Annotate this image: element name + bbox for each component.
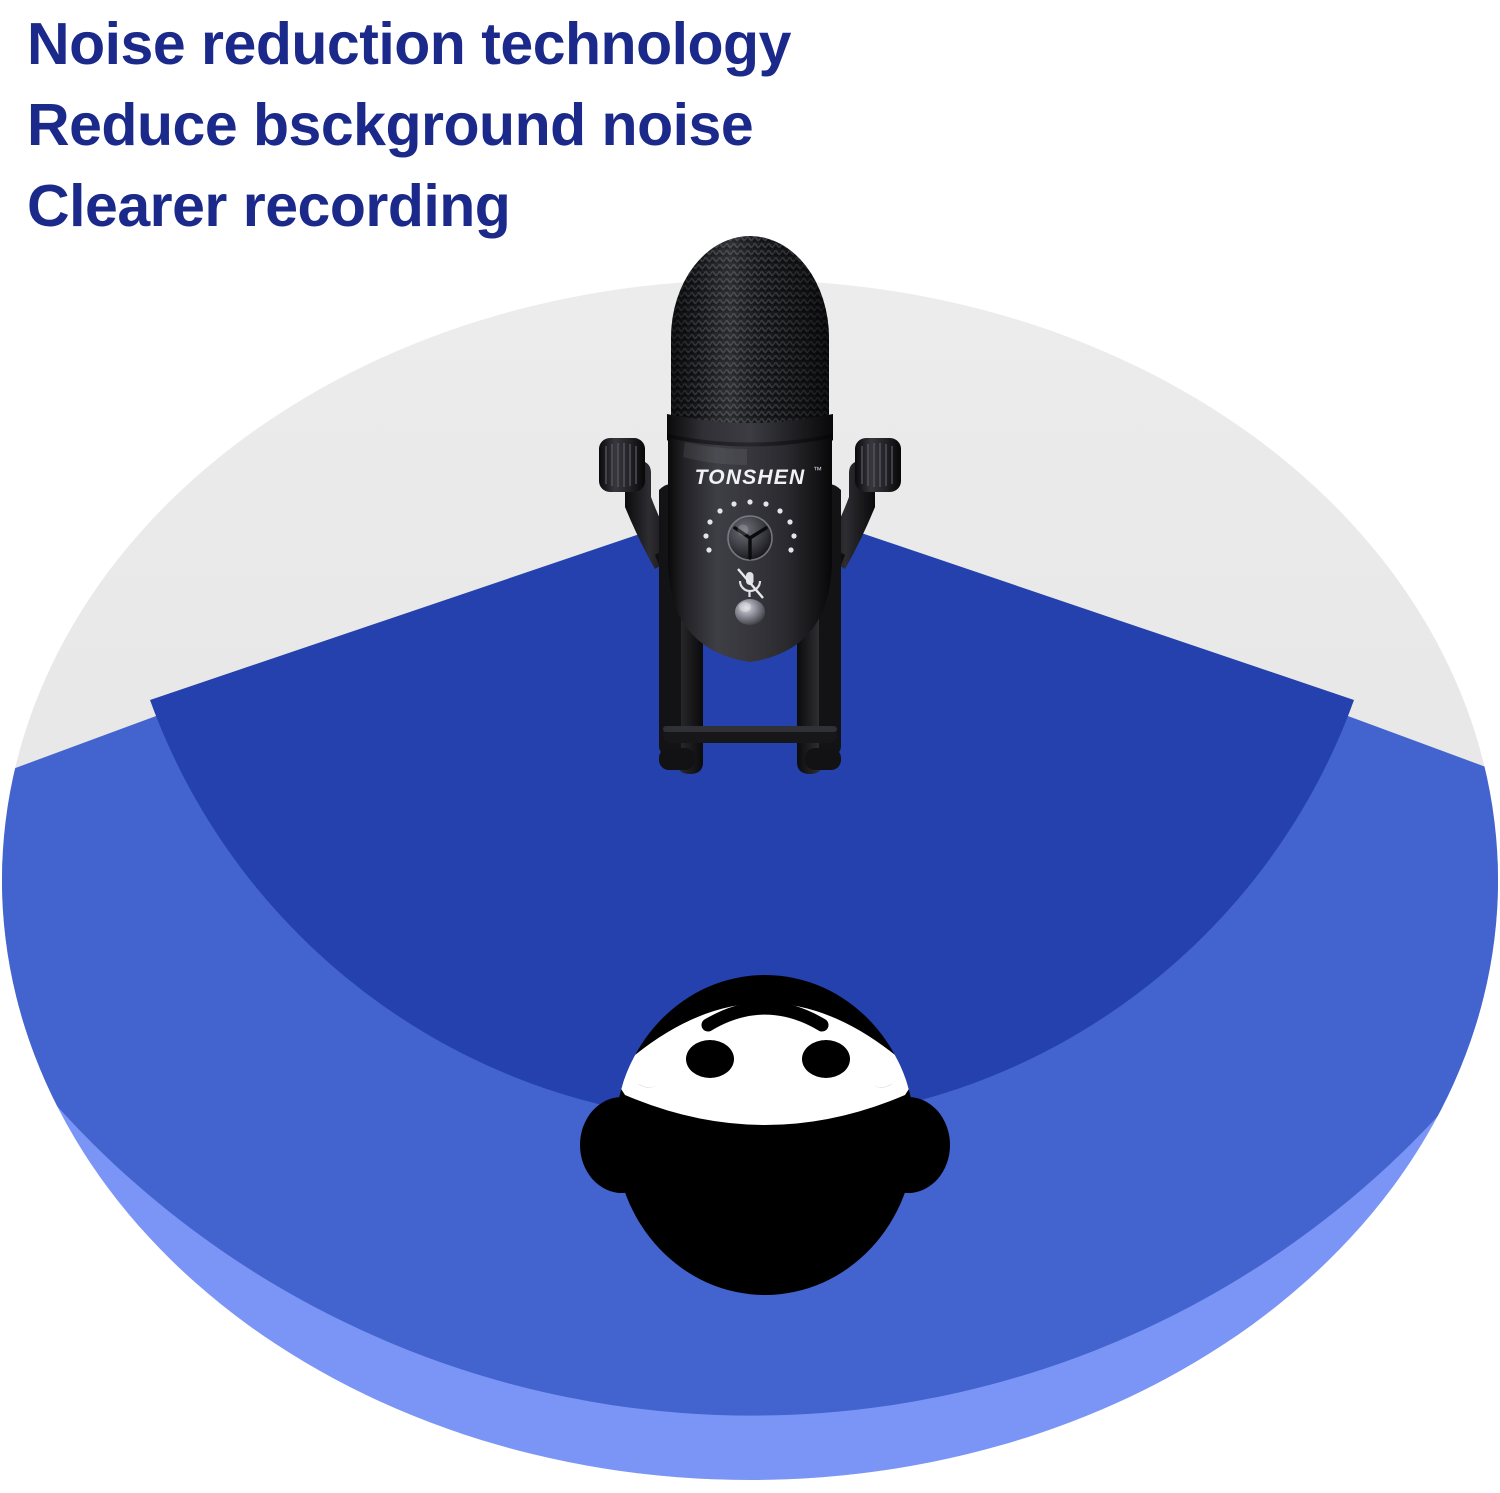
- left-tension-knob[interactable]: [599, 438, 645, 492]
- product-infographic: TONSHEN ™: [0, 0, 1500, 1493]
- stand-feet: [659, 748, 841, 770]
- brand-logo: TONSHEN ™: [695, 465, 822, 489]
- headline-line-2: Reduce bsckground noise: [27, 85, 1027, 166]
- person-head-top-view: [560, 955, 970, 1305]
- stand-crossbar: [663, 726, 837, 743]
- right-eye: [802, 1040, 850, 1078]
- headline-line-3: Clearer recording: [27, 166, 1027, 247]
- volume-knob[interactable]: [728, 516, 772, 560]
- mesh-grille-head: [671, 236, 829, 424]
- headline-line-1: Noise reduction technology: [27, 4, 1027, 85]
- usb-condenser-microphone: TONSHEN ™: [585, 228, 915, 788]
- left-eye: [686, 1040, 734, 1078]
- svg-text:™: ™: [813, 465, 822, 475]
- svg-text:TONSHEN: TONSHEN: [695, 466, 806, 489]
- status-led-button[interactable]: [735, 599, 765, 625]
- right-tension-knob[interactable]: [855, 438, 901, 492]
- headline-block: Noise reduction technology Reduce bsckgr…: [27, 4, 1027, 247]
